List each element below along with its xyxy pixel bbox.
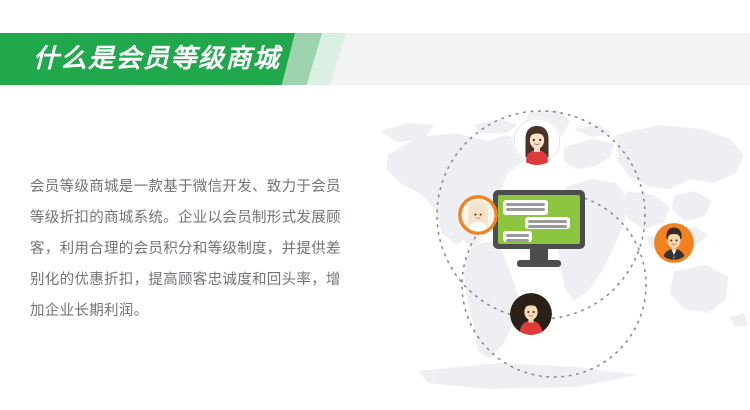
avatar-right-man-suit [654,223,694,263]
paragraph-line: 客，利用合理的会员积分和等级制度，并提供差 [30,234,378,265]
paragraph-line: 会员等级商城是一款基于微信开发、致力于会员 [30,172,378,203]
paragraph-line: 别化的优惠折扣，提高顾客忠诚度和回头率，增 [30,265,378,296]
paragraph-line: 等级折扣的商城系统。企业以会员制形式发展顾 [30,203,378,234]
monitor-screen [498,195,580,244]
paragraph-line: 加企业长期利润。 [30,296,378,327]
avatar-bottom-woman-red [510,293,552,335]
chat-bubble [503,231,532,242]
header-banner: 什么是会员等级商城 [0,33,750,85]
monitor-stand-base [517,260,561,267]
page-root: 什么是会员等级商城 会员等级商城是一款基于微信开发、致力于会员 等级折扣的商城系… [0,0,750,410]
avatar-left-person-orange [458,195,498,235]
computer-monitor-icon [493,190,585,270]
network-illustration [378,95,750,410]
description-paragraph: 会员等级商城是一款基于微信开发、致力于会员 等级折扣的商城系统。企业以会员制形式… [30,172,378,327]
page-title: 什么是会员等级商城 [33,33,281,85]
chat-bubble [525,217,570,229]
avatar-top-woman-red [513,117,561,165]
chat-bubble [503,200,548,215]
